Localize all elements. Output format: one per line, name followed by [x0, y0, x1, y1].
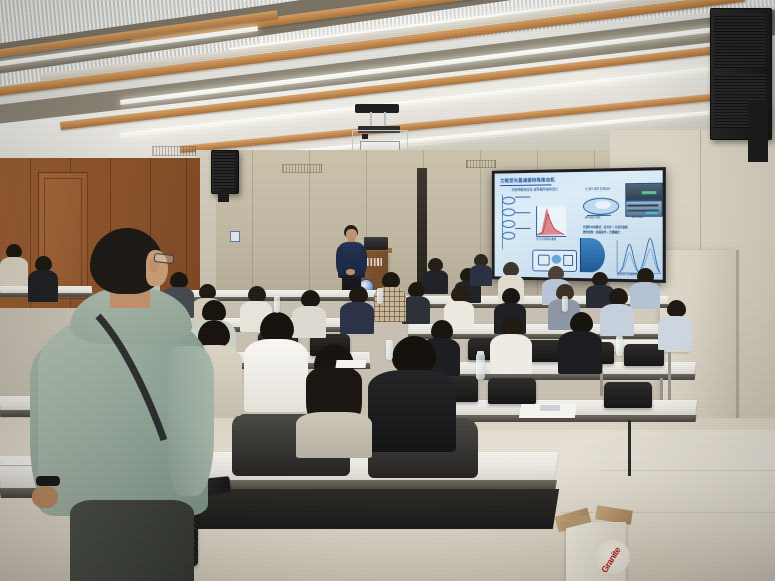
speaker-left-mount — [218, 190, 229, 202]
hvac-vent-left — [152, 146, 196, 156]
foreground-standing-attendee — [18, 228, 218, 581]
slide-subtitle: 光致伸缩效应及 波导器件结构设计 — [511, 186, 558, 192]
slide-mode-profile — [581, 238, 605, 272]
slide-text-line-1: 光器件中间模式：红外光 + 可见光波段 — [583, 226, 628, 230]
head — [392, 336, 436, 374]
head — [451, 286, 469, 302]
slide-arrow-3 — [515, 228, 530, 229]
fg-glasses — [154, 253, 175, 264]
slide-device-part-3 — [563, 255, 573, 266]
slide-sem-scalebar-2 — [646, 212, 657, 215]
head — [408, 282, 425, 297]
torso — [490, 334, 532, 374]
head — [637, 268, 654, 283]
slide-arrow-1 — [515, 196, 530, 197]
slide-sem-scalebar-1 — [642, 191, 657, 194]
slide-label-top-right: 光 波导 器件 结构设计 — [585, 188, 611, 192]
head — [349, 286, 368, 303]
head — [570, 312, 593, 333]
torso — [470, 265, 492, 286]
audience-person-23 — [368, 336, 456, 452]
audience-person-14 — [490, 316, 532, 374]
torso — [296, 412, 372, 458]
chair-6[interactable] — [488, 378, 536, 404]
torso — [558, 331, 602, 374]
slide-device-part-2 — [552, 255, 562, 264]
slide-mode-axis — [580, 238, 581, 272]
torso — [368, 370, 456, 452]
speaker-right-mount — [748, 100, 768, 162]
torso — [340, 302, 374, 334]
slide-waveguide-leader — [587, 215, 611, 216]
water-bottle-3[interactable] — [377, 288, 383, 304]
torso — [630, 282, 660, 309]
slide-molecule-2 — [502, 208, 515, 216]
audience-person-5 — [630, 268, 660, 308]
floor-tile-seam-1 — [600, 470, 775, 471]
slide-molecule-4 — [502, 232, 515, 240]
torso — [600, 304, 634, 336]
fg-wristwatch — [36, 476, 60, 486]
floor-tile-seam-2 — [560, 512, 775, 513]
slide-molecule-1 — [502, 197, 515, 205]
paper-sheet-1-item — [540, 405, 560, 411]
slide-plot-caption: 荧光光谱响应曲线 — [536, 238, 556, 242]
head — [592, 272, 608, 286]
torso — [658, 316, 692, 350]
water-bottle-4[interactable] — [562, 296, 568, 312]
slide-title-underline — [500, 184, 551, 186]
head — [503, 262, 519, 276]
paper-sheet-3[interactable] — [335, 360, 366, 368]
audience-person-28 — [658, 300, 692, 350]
water-bottle-1[interactable] — [476, 354, 485, 380]
lecture-hall-photo: 力致型光基减振特殊推动机 光致伸缩效应及 波导器件结构设计 荧光光谱响应曲线 — [0, 0, 775, 581]
audience-person-7 — [470, 254, 492, 286]
head — [548, 266, 564, 280]
fg-trousers — [70, 500, 194, 581]
water-bottle-1-cap — [477, 351, 484, 355]
audience-person-8 — [402, 282, 430, 324]
water-bottle-5[interactable] — [386, 340, 393, 360]
slide-waveguide-core — [595, 201, 611, 209]
projector-lens — [362, 134, 368, 139]
fg-hand — [32, 486, 58, 508]
hvac-vent-front — [282, 164, 322, 173]
head — [301, 290, 320, 307]
speaker-left-grille — [213, 152, 235, 189]
chair-7[interactable] — [604, 382, 652, 408]
presenter-hands — [346, 269, 355, 275]
head — [501, 316, 523, 336]
water-bottle-6[interactable] — [616, 336, 623, 356]
presenter-arm-left — [336, 247, 343, 273]
slide-sem-line-1 — [627, 204, 658, 206]
speaker-right-grille-top — [714, 14, 766, 68]
slide-arrow-2 — [515, 212, 530, 213]
projector-ceiling-plate — [355, 104, 399, 113]
wall-sign — [230, 231, 240, 242]
head — [260, 312, 294, 342]
slide-waveguide-caption: 器件截面示意图 — [585, 217, 600, 220]
desk-leg-d2 — [628, 420, 631, 476]
slide-device-part-1 — [538, 255, 550, 266]
audience-person-12 — [600, 288, 634, 336]
head — [502, 288, 520, 304]
audience-person-15 — [558, 312, 602, 374]
slide-sem-caption: SEM image — [631, 217, 643, 220]
head — [382, 272, 400, 288]
presenter-arm-right — [360, 247, 367, 273]
slide-sem-panel-2 — [625, 200, 662, 217]
slide-spectrum-curve — [536, 206, 565, 236]
head — [667, 300, 686, 317]
slide-molecule-3 — [502, 220, 515, 228]
audience-person-19 — [340, 286, 374, 334]
desk-right-leg-2 — [668, 352, 671, 400]
desk-foreground-front-panel — [193, 489, 559, 529]
water-bottle-2[interactable] — [274, 296, 280, 313]
head — [248, 286, 266, 302]
fg-crossbody-strap — [92, 312, 188, 444]
head — [609, 288, 628, 305]
hvac-vent-front-2 — [466, 160, 496, 168]
